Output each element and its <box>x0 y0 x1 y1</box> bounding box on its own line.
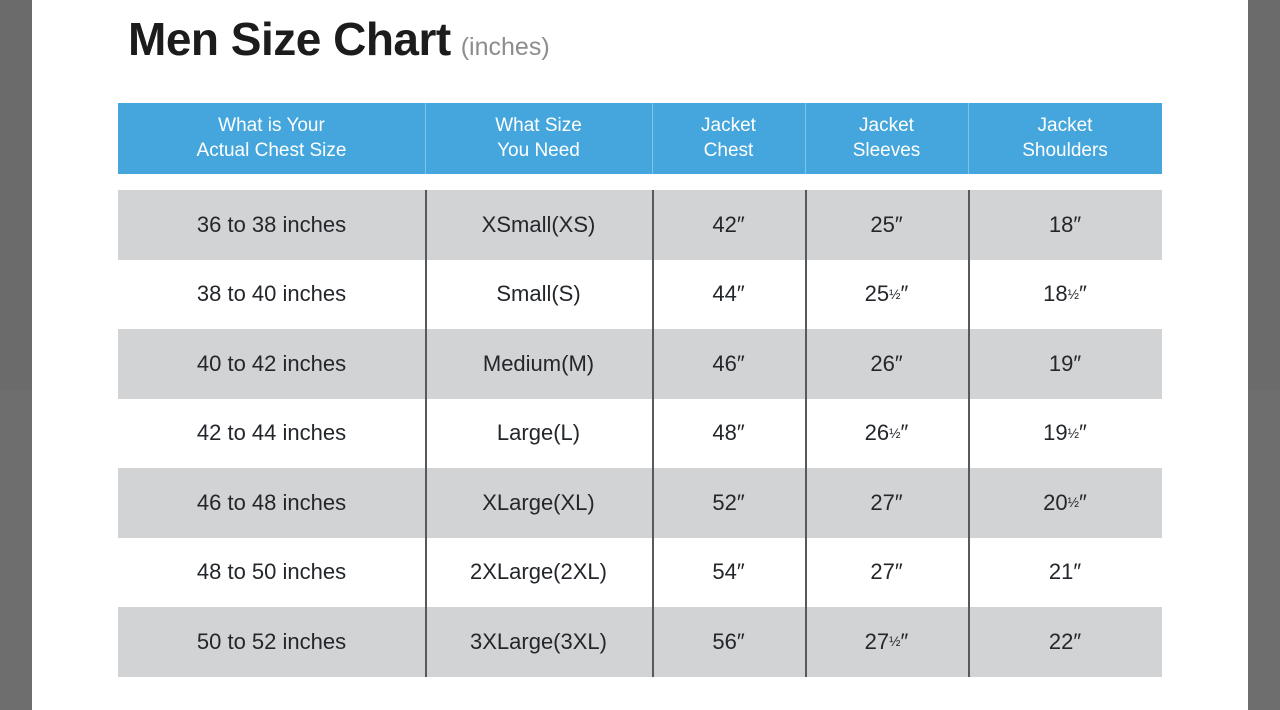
header-body-gap <box>118 174 1162 190</box>
cell-jacket-chest: 52″ <box>652 468 805 538</box>
cell-jacket-chest: 46″ <box>652 329 805 399</box>
column-header-line2: Shoulders <box>1022 139 1108 163</box>
cell-jacket-shoulders: 20½″ <box>968 468 1162 538</box>
cell-jacket-sleeves: 27½″ <box>805 607 968 677</box>
table-row: 42 to 44 inchesLarge(L)48″26½″19½″ <box>118 399 1162 469</box>
cell-jacket-sleeves: 26″ <box>805 329 968 399</box>
cell-actual-chest-size: 46 to 48 inches <box>118 468 425 538</box>
cell-actual-chest-size: 38 to 40 inches <box>118 260 425 330</box>
column-header-line1: What Size <box>495 114 582 138</box>
column-header-actual-chest-size: What is Your Actual Chest Size <box>118 103 425 174</box>
cell-size-you-need: XSmall(XS) <box>425 190 652 260</box>
cell-jacket-sleeves: 27″ <box>805 538 968 608</box>
cell-jacket-shoulders: 22″ <box>968 607 1162 677</box>
column-header-line2: You Need <box>497 139 580 163</box>
column-header-line1: What is Your <box>218 114 325 138</box>
column-header-line1: Jacket <box>1038 114 1093 138</box>
page-title: Men Size Chart (inches) <box>128 16 550 62</box>
cell-jacket-shoulders: 18″ <box>968 190 1162 260</box>
column-header-jacket-shoulders: Jacket Shoulders <box>968 103 1162 174</box>
title-main-text: Men Size Chart <box>128 16 451 62</box>
letterbox-seam-left <box>0 390 32 710</box>
column-header-line1: Jacket <box>701 114 756 138</box>
cell-jacket-shoulders: 19″ <box>968 329 1162 399</box>
column-header-size-you-need: What Size You Need <box>425 103 652 174</box>
cell-jacket-shoulders: 21″ <box>968 538 1162 608</box>
cell-jacket-sleeves: 27″ <box>805 468 968 538</box>
cell-actual-chest-size: 40 to 42 inches <box>118 329 425 399</box>
cell-jacket-chest: 42″ <box>652 190 805 260</box>
cell-actual-chest-size: 36 to 38 inches <box>118 190 425 260</box>
letterbox-bar-left <box>0 0 32 710</box>
cell-actual-chest-size: 42 to 44 inches <box>118 399 425 469</box>
column-header-line2: Sleeves <box>853 139 921 163</box>
cell-size-you-need: Large(L) <box>425 399 652 469</box>
table-row: 48 to 50 inches2XLarge(2XL)54″27″21″ <box>118 538 1162 608</box>
table-row: 46 to 48 inchesXLarge(XL)52″27″20½″ <box>118 468 1162 538</box>
column-header-line1: Jacket <box>859 114 914 138</box>
cell-jacket-sleeves: 25″ <box>805 190 968 260</box>
cell-actual-chest-size: 48 to 50 inches <box>118 538 425 608</box>
cell-jacket-shoulders: 19½″ <box>968 399 1162 469</box>
table-body: 36 to 38 inchesXSmall(XS)42″25″18″38 to … <box>118 190 1162 677</box>
cell-jacket-chest: 48″ <box>652 399 805 469</box>
cell-jacket-chest: 44″ <box>652 260 805 330</box>
letterbox-seam-right <box>1248 390 1280 710</box>
cell-jacket-shoulders: 18½″ <box>968 260 1162 330</box>
cell-size-you-need: 2XLarge(2XL) <box>425 538 652 608</box>
cell-jacket-sleeves: 26½″ <box>805 399 968 469</box>
column-header-jacket-sleeves: Jacket Sleeves <box>805 103 968 174</box>
table-row: 38 to 40 inchesSmall(S)44″25½″18½″ <box>118 260 1162 330</box>
cell-actual-chest-size: 50 to 52 inches <box>118 607 425 677</box>
table-header-row: What is Your Actual Chest Size What Size… <box>118 103 1162 174</box>
cell-jacket-chest: 56″ <box>652 607 805 677</box>
title-unit-text: (inches) <box>461 35 550 60</box>
table-row: 50 to 52 inches3XLarge(3XL)56″27½″22″ <box>118 607 1162 677</box>
size-chart-screen: Men Size Chart (inches) What is Your Act… <box>0 0 1280 710</box>
size-chart-table: What is Your Actual Chest Size What Size… <box>118 103 1162 677</box>
cell-size-you-need: XLarge(XL) <box>425 468 652 538</box>
cell-size-you-need: Small(S) <box>425 260 652 330</box>
cell-jacket-sleeves: 25½″ <box>805 260 968 330</box>
table-row: 36 to 38 inchesXSmall(XS)42″25″18″ <box>118 190 1162 260</box>
column-header-jacket-chest: Jacket Chest <box>652 103 805 174</box>
column-header-line2: Chest <box>704 139 754 163</box>
letterbox-bar-right <box>1248 0 1280 710</box>
cell-size-you-need: 3XLarge(3XL) <box>425 607 652 677</box>
cell-size-you-need: Medium(M) <box>425 329 652 399</box>
column-header-line2: Actual Chest Size <box>197 139 347 163</box>
table-row: 40 to 42 inchesMedium(M)46″26″19″ <box>118 329 1162 399</box>
cell-jacket-chest: 54″ <box>652 538 805 608</box>
chart-page: Men Size Chart (inches) What is Your Act… <box>32 0 1248 710</box>
